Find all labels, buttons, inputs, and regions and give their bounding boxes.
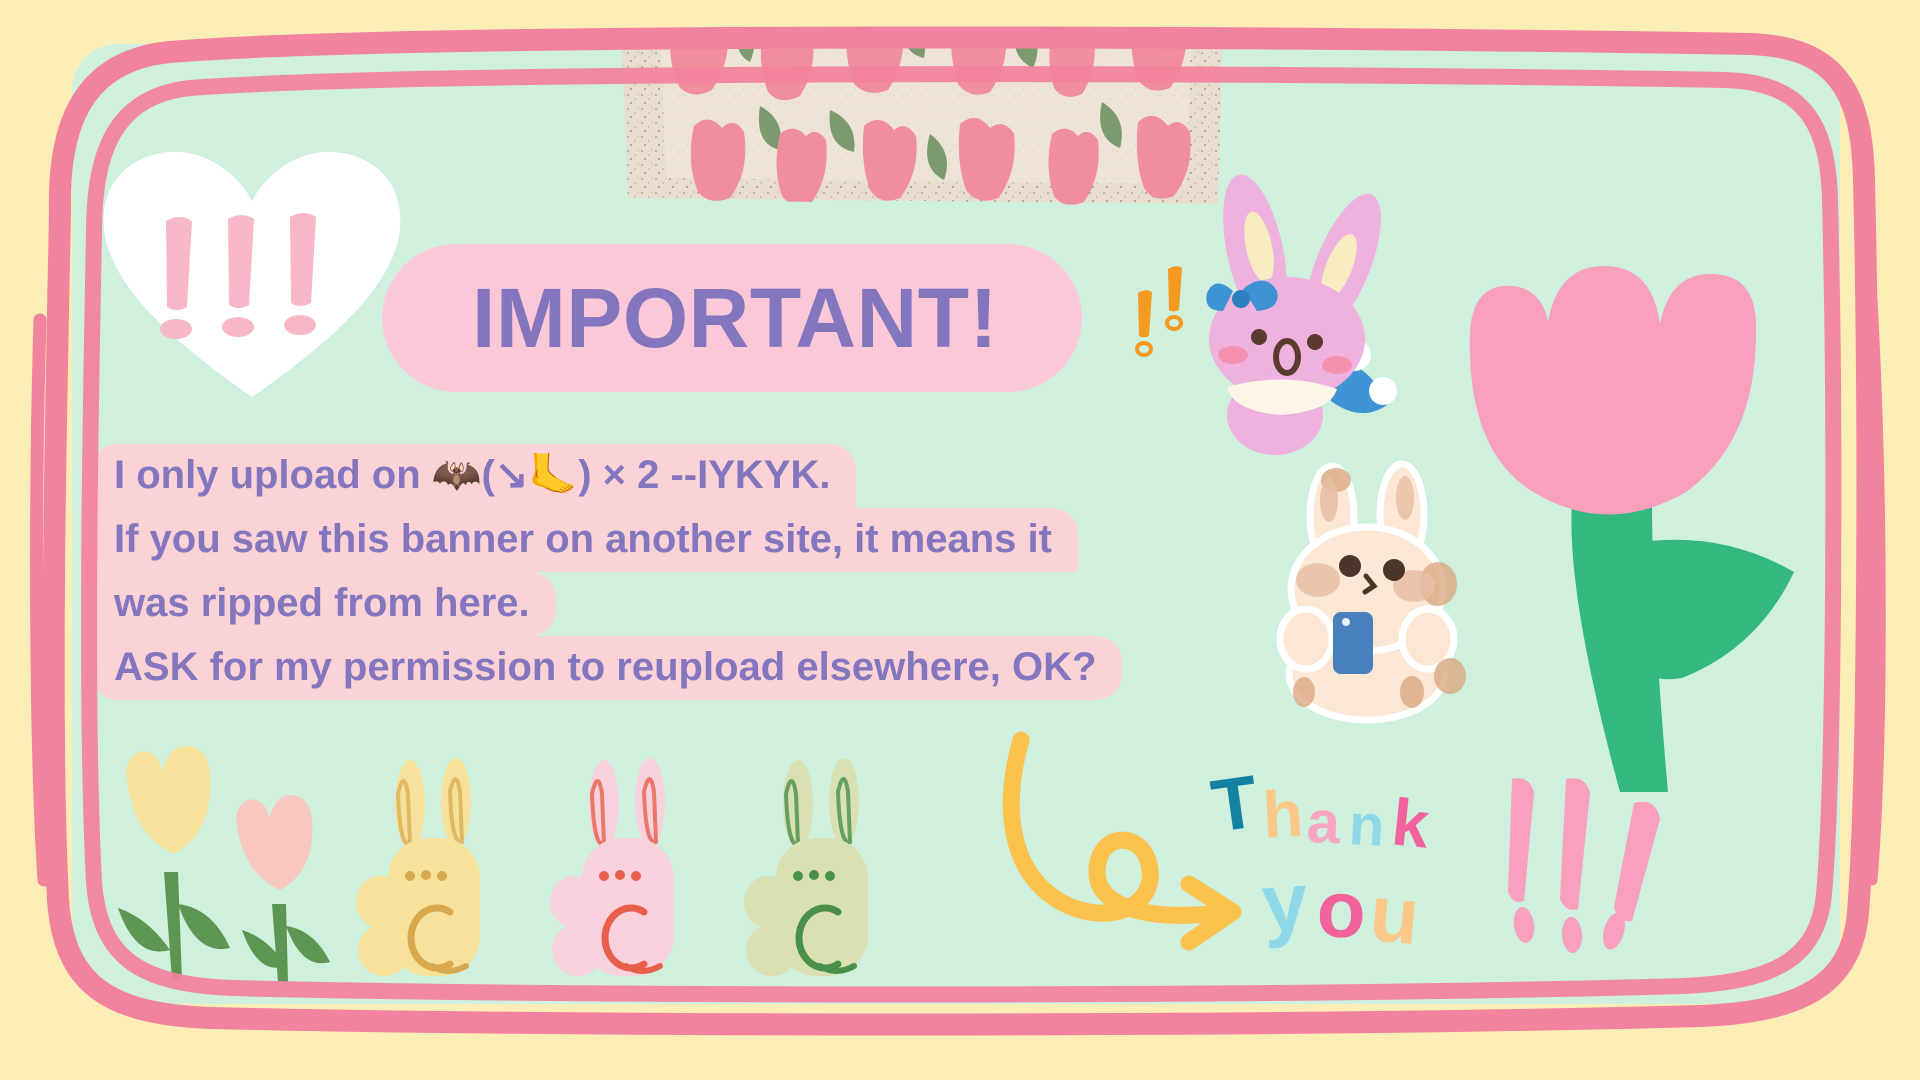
page-title: IMPORTANT! (472, 276, 998, 360)
message-line-3: was ripped from here. (92, 572, 556, 636)
ty-letter-T: T (1207, 759, 1263, 847)
yellow-tulip (118, 746, 230, 980)
marshmallow-bunny-yellow (356, 758, 480, 976)
message-line-1: I only upload on 🦇(↘🦶) × 2 --IYKYK. (92, 444, 856, 508)
pink-tulip (236, 795, 330, 982)
ty-letter-k: k (1389, 784, 1434, 861)
ty-letter-u: u (1367, 868, 1423, 961)
banner-canvas: IMPORTANT! (0, 0, 1920, 1080)
tulip-petals (1470, 266, 1756, 515)
thank-you-lettering: T h a n k y o u (1212, 764, 1502, 954)
ty-letter-y: y (1259, 856, 1311, 950)
ty-letter-n: n (1347, 792, 1386, 859)
purple-bunny-with-blue-bow (1147, 179, 1417, 459)
tulip-leaf (1628, 540, 1794, 679)
important-banner: IMPORTANT! (382, 244, 1082, 392)
blue-phone (1333, 612, 1373, 674)
ty-letter-a: a (1306, 788, 1342, 856)
pink-exclamation-strokes (1502, 779, 1702, 979)
tulip-washi-tape (612, 44, 1232, 212)
ty-letter-h: h (1261, 776, 1305, 852)
ty-letter-o: o (1315, 864, 1367, 955)
message-line-2: If you saw this banner on another site, … (92, 508, 1078, 572)
message-line-4: ASK for my permission to reupload elsewh… (92, 636, 1122, 700)
heart-shape (104, 152, 401, 397)
white-heart-with-exclamations (92, 139, 412, 404)
message-block: I only upload on 🦇(↘🦶) × 2 --IYKYK. If y… (92, 444, 1172, 700)
marshmallow-bunny-green (744, 758, 868, 976)
marshmallow-bunny-pink (550, 758, 674, 976)
large-pink-tulip (1442, 254, 1812, 824)
mint-card: IMPORTANT! (72, 44, 1840, 1004)
bottom-decoration-row (92, 754, 992, 984)
